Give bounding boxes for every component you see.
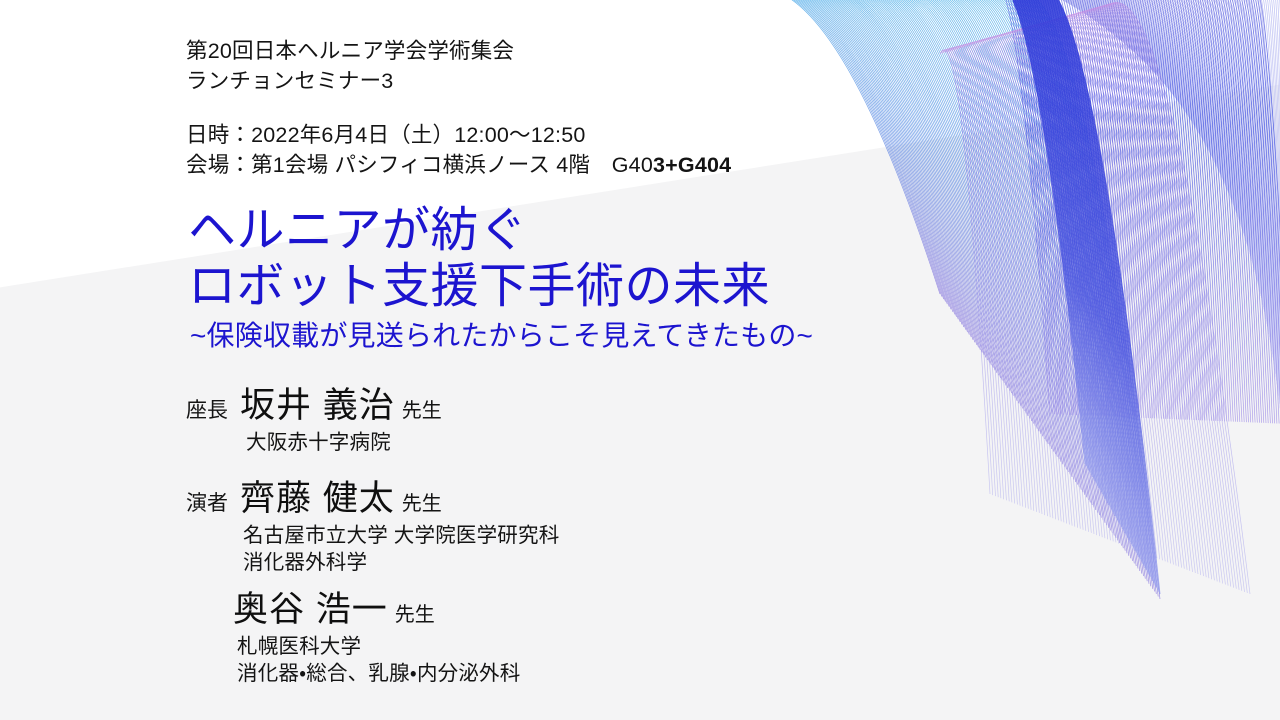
chair-name-row: 座長 坂井 義治 先生 (186, 388, 442, 423)
speaker-2-honorific: 先生 (395, 605, 435, 625)
title-line-2: ロボット支援下手術の未来 (188, 258, 813, 316)
event-info: 日時：2022年6月4日（土）12:00～12:50 会場：第1会場 パシフィコ… (186, 120, 731, 180)
title-subtitle: ~保険収載が見送られたからこそ見えてきたもの~ (190, 318, 813, 354)
event-datetime: 日時：2022年6月4日（土）12:00～12:50 (186, 120, 731, 150)
speaker-2-block: 奥谷 浩一 先生 札幌医科大学 消化器・総合、乳腺・内分泌外科 (186, 592, 520, 687)
speaker-1-affiliations: 名古屋市立大学 大学院医学研究科 消化器外科学 (243, 522, 559, 576)
chair-name: 坂井 義治 (240, 388, 395, 423)
venue-room-code: 3+G404 (653, 153, 731, 177)
speaker-2-name-row: 奥谷 浩一 先生 (186, 592, 520, 627)
chair-affiliation-1: 大阪赤十字病院 (246, 429, 442, 456)
speaker-2-name: 奥谷 浩一 (233, 592, 388, 627)
speaker-1-name: 齊藤 健太 (240, 481, 395, 516)
meeting-heading: 第20回日本ヘルニア学会学術集会 ランチョンセミナー3 (186, 36, 514, 96)
seminar-announcement-slide: 第20回日本ヘルニア学会学術集会 ランチョンセミナー3 日時：2022年6月4日… (0, 0, 1280, 720)
speaker-2-affiliations: 札幌医科大学 消化器・総合、乳腺・内分泌外科 (237, 633, 520, 687)
venue-text: 会場：第1会場 パシフィコ横浜ノース 4階 G40 (186, 153, 653, 177)
speaker-2-affiliation-1: 札幌医科大学 (237, 633, 520, 660)
speaker-1-honorific: 先生 (402, 494, 442, 514)
speaker-1-name-row: 演者 齊藤 健太 先生 (186, 481, 559, 516)
event-venue: 会場：第1会場 パシフィコ横浜ノース 4階 G403+G404 (186, 150, 731, 180)
chair-role-label: 座長 (186, 400, 240, 421)
speaker-1-affiliation-2: 消化器外科学 (243, 549, 559, 576)
speaker-1-block: 演者 齊藤 健太 先生 名古屋市立大学 大学院医学研究科 消化器外科学 (186, 481, 559, 576)
conference-name: 第20回日本ヘルニア学会学術集会 (186, 36, 514, 66)
chair-block: 座長 坂井 義治 先生 大阪赤十字病院 (186, 388, 442, 456)
speaker-2-affiliation-2: 消化器・総合、乳腺・内分泌外科 (237, 660, 520, 687)
title-block: ヘルニアが紡ぐ ロボット支援下手術の未来 ~保険収載が見送られたからこそ見えてき… (188, 202, 813, 354)
title-line-1: ヘルニアが紡ぐ (188, 202, 813, 260)
chair-affiliations: 大阪赤十字病院 (246, 429, 442, 456)
chair-honorific: 先生 (402, 401, 442, 421)
speaker-1-role-label: 演者 (186, 493, 240, 514)
speaker-1-affiliation-1: 名古屋市立大学 大学院医学研究科 (243, 522, 559, 549)
session-name: ランチョンセミナー3 (186, 66, 514, 96)
